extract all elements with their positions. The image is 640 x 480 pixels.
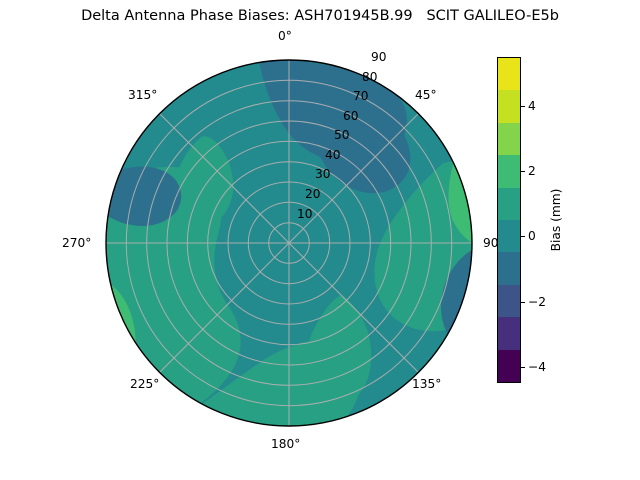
colorbar-axis-label: Bias (mm) [549, 189, 563, 252]
angle-225: 225° [130, 377, 159, 391]
colorbar-tick-0 [521, 236, 525, 237]
colorbar-band-2 [498, 123, 520, 155]
angle-315: 315° [128, 88, 157, 102]
polar-gridlines [106, 60, 472, 426]
radius-10: 10 [297, 207, 313, 221]
polar-field-svg [105, 59, 473, 427]
radius-20: 20 [305, 187, 321, 201]
radius-60: 60 [343, 109, 359, 123]
colorbar-tick-neg4 [521, 367, 525, 368]
colorbar-band-5 [498, 220, 520, 252]
radius-70: 70 [353, 89, 369, 103]
cbtick-neg4: −4 [528, 360, 546, 374]
angle-270: 270° [62, 236, 91, 250]
colorbar-band-8 [498, 317, 520, 349]
colorbar-band-3 [498, 155, 520, 187]
cbtick-2: 2 [528, 164, 536, 178]
colorbar-tick-2 [521, 171, 525, 172]
figure-canvas: Delta Antenna Phase Biases: ASH701945B.9… [0, 0, 640, 480]
colorbar-band-7 [498, 285, 520, 317]
radius-30: 30 [315, 167, 331, 181]
radius-80: 80 [362, 70, 378, 84]
radius-90: 90 [371, 50, 387, 64]
colorbar-band-4 [498, 188, 520, 220]
colorbar-gradient [497, 57, 521, 383]
cbtick-4: 4 [528, 99, 536, 113]
radius-40: 40 [325, 148, 341, 162]
colorbar-band-9 [498, 350, 520, 382]
colorbar-tick-4 [521, 106, 525, 107]
polar-plot-axes: 10 20 30 40 50 60 70 80 90 [105, 59, 473, 427]
colorbar-tick-neg2 [521, 302, 525, 303]
angle-180: 180° [271, 437, 300, 451]
colorbar: 4 2 0 −2 −4 [497, 57, 521, 383]
colorbar-band-0 [498, 58, 520, 90]
angle-0: 0° [278, 29, 292, 43]
radius-50: 50 [334, 128, 350, 142]
cbtick-0: 0 [528, 229, 536, 243]
cbtick-neg2: −2 [528, 295, 546, 309]
page-title: Delta Antenna Phase Biases: ASH701945B.9… [0, 8, 640, 24]
colorbar-band-1 [498, 90, 520, 122]
colorbar-band-6 [498, 252, 520, 284]
angle-135: 135° [412, 377, 441, 391]
angle-45: 45° [415, 88, 437, 102]
